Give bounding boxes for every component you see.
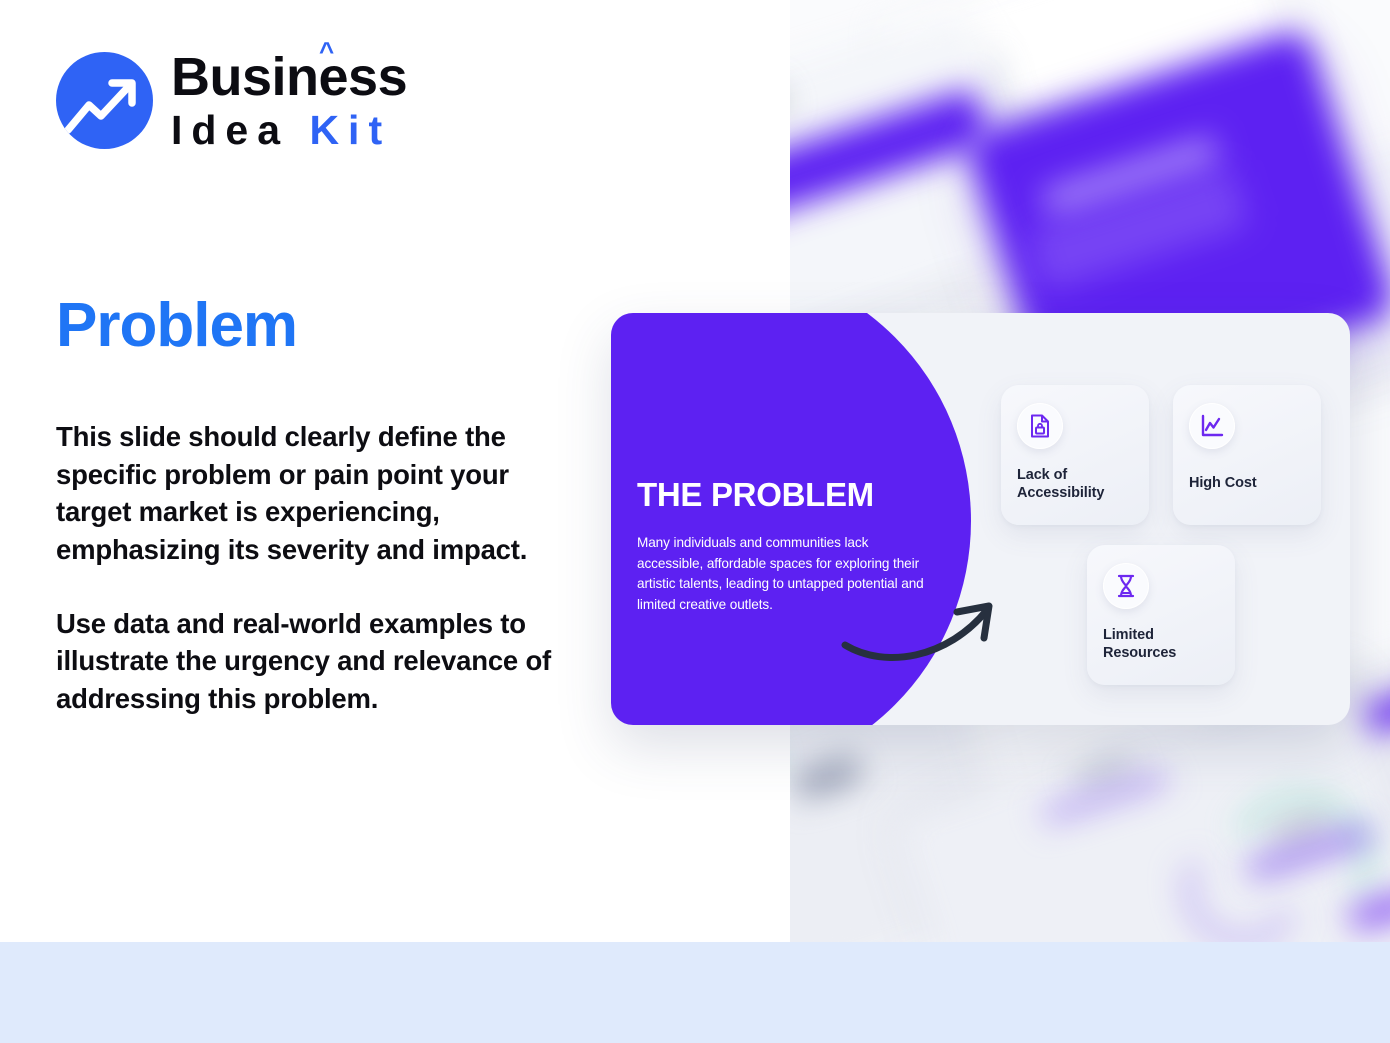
- body-copy: This slide should clearly define the spe…: [56, 418, 566, 718]
- slide-page: Business ^ Idea Kit Problem This slide s…: [0, 0, 1390, 1043]
- feature-card-limited-resources[interactable]: Limited Resources: [1087, 545, 1235, 685]
- line-chart-icon: [1189, 403, 1235, 449]
- feature-card-high-cost[interactable]: High Cost: [1173, 385, 1321, 525]
- growth-arrow-icon: [56, 52, 153, 149]
- body-paragraph-1: This slide should clearly define the spe…: [56, 418, 566, 569]
- brand-logo[interactable]: Business ^ Idea Kit: [56, 50, 407, 151]
- slide-heading: THE PROBLEM: [637, 478, 967, 511]
- feature-label: High Cost: [1189, 475, 1305, 493]
- problem-slide-card[interactable]: THE PROBLEM Many individuals and communi…: [611, 313, 1350, 725]
- page-title: Problem: [56, 295, 297, 357]
- footer-band: [0, 942, 1390, 1043]
- brand-name-line2: Idea Kit: [171, 110, 407, 151]
- feature-card-accessibility[interactable]: Lack of Accessibility: [1001, 385, 1149, 525]
- brand-wordmark: Business ^ Idea Kit: [171, 50, 407, 151]
- brand-name-idea: Idea: [171, 107, 309, 153]
- curved-arrow-icon: [841, 593, 1006, 668]
- brand-name-line1: Business ^: [171, 50, 407, 104]
- hourglass-icon: [1103, 563, 1149, 609]
- brand-name-kit: Kit: [309, 107, 391, 153]
- feature-label: Limited Resources: [1103, 627, 1219, 662]
- document-lock-icon: [1017, 403, 1063, 449]
- body-paragraph-2: Use data and real-world examples to illu…: [56, 605, 566, 718]
- brand-name-line1-text: Business: [171, 47, 407, 107]
- feature-label: Lack of Accessibility: [1017, 467, 1133, 502]
- caret-accent-icon: ^: [319, 38, 334, 64]
